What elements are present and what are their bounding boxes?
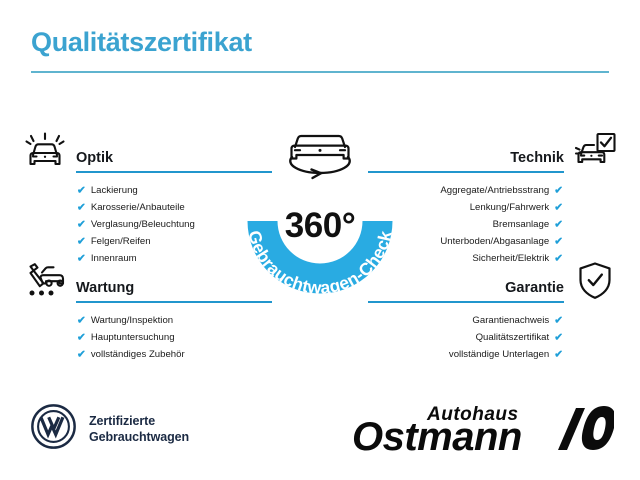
list-item: ✔ Hauptuntersuchung xyxy=(77,330,272,347)
check-icon: ✔ xyxy=(554,316,563,327)
badge-360-gebrauchtwagen-check: Gebrauchtwagen-Check 360° xyxy=(234,113,406,313)
check-icon: ✔ xyxy=(77,186,86,197)
list-item-label: Karosserie/Anbauteile xyxy=(91,203,185,213)
dealer-monogram-ao xyxy=(558,406,614,450)
certificate-page: Qualitätszertifikat Opt xyxy=(0,0,640,480)
list-item-label: Wartung/Inspektion xyxy=(91,316,173,326)
list-item: ✔ Wartung/Inspektion xyxy=(77,313,272,330)
list-item-label: Felgen/Reifen xyxy=(91,237,151,247)
vw-line-2: Gebrauchtwagen xyxy=(89,429,189,446)
car-front-shine-icon xyxy=(22,130,68,174)
check-icon: ✔ xyxy=(554,350,563,361)
list-item-label: Verglasung/Beleuchtung xyxy=(91,220,195,230)
check-icon: ✔ xyxy=(77,203,86,214)
list-item: ✔ Garantienachweis xyxy=(368,313,563,330)
page-header: Qualitätszertifikat xyxy=(31,28,609,73)
list-item-label: Qualitätszertifikat xyxy=(476,333,550,343)
shield-check-icon xyxy=(572,260,618,304)
check-icon: ✔ xyxy=(77,237,86,248)
badge-center-label: 360° xyxy=(285,206,355,245)
list-item-label: Bremsanlage xyxy=(493,220,550,230)
list-item-label: Unterboden/Abgasanlage xyxy=(440,237,549,247)
check-icon: ✔ xyxy=(554,237,563,248)
vw-logo xyxy=(30,403,77,455)
checklist-garantie: ✔ Garantienachweis ✔ Qualitätszertifikat… xyxy=(368,313,618,364)
list-item-label: Aggregate/Antriebsstrang xyxy=(440,186,549,196)
list-item-label: Hauptuntersuchung xyxy=(91,333,175,343)
car-checkbox-icon xyxy=(572,130,618,174)
check-icon: ✔ xyxy=(554,220,563,231)
vw-line-1: Zertifizierte xyxy=(89,413,189,430)
check-icon: ✔ xyxy=(77,316,86,327)
list-item-label: vollständiges Zubehör xyxy=(91,350,185,360)
list-item-label: Lenkung/Fahrwerk xyxy=(470,203,549,213)
check-icon: ✔ xyxy=(554,203,563,214)
list-item: ✔ Qualitätszertifikat xyxy=(368,330,563,347)
car-rotate-360-icon xyxy=(290,136,349,178)
list-item: ✔ vollständige Unterlagen xyxy=(368,347,563,364)
dealer-main-label: Ostmann xyxy=(352,415,522,459)
list-item-label: Garantienachweis xyxy=(472,316,549,326)
checklist-wartung: ✔ Wartung/Inspektion ✔ Hauptuntersuchung… xyxy=(22,313,272,364)
check-icon: ✔ xyxy=(77,350,86,361)
check-icon: ✔ xyxy=(77,333,86,344)
list-item: ✔ vollständiges Zubehör xyxy=(77,347,272,364)
list-item-label: Lackierung xyxy=(91,186,138,196)
check-icon: ✔ xyxy=(77,220,86,231)
vw-certified-logo-block: Zertifizierte Gebrauchtwagen xyxy=(30,403,189,455)
header-divider xyxy=(31,71,609,73)
vw-certified-text: Zertifizierte Gebrauchtwagen xyxy=(89,413,189,446)
car-wrench-service-icon xyxy=(22,260,68,304)
check-icon: ✔ xyxy=(554,333,563,344)
check-icon: ✔ xyxy=(554,186,563,197)
page-title: Qualitätszertifikat xyxy=(31,28,609,58)
list-item-label: vollständige Unterlagen xyxy=(449,350,549,360)
dealer-logo-autohaus-ostmann: Autohaus Ostmann xyxy=(352,398,614,460)
